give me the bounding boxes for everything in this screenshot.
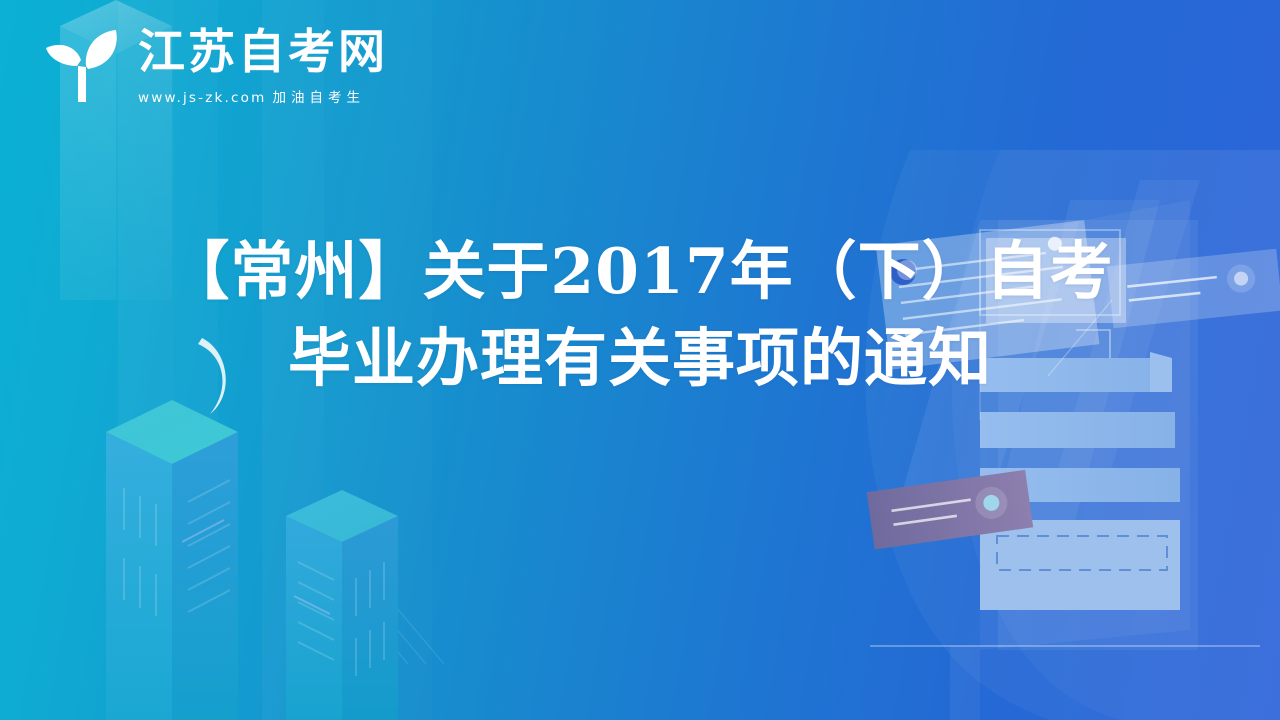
sprout-leaf-icon xyxy=(36,22,124,114)
tower-tall-left xyxy=(106,400,238,720)
site-logo[interactable]: 江苏自考网 www.js-zk.com加油自考生 xyxy=(36,22,388,114)
logo-text-column: 江苏自考网 www.js-zk.com加油自考生 xyxy=(138,22,388,106)
bg-hairlines xyxy=(300,600,460,720)
logo-url: www.js-zk.com xyxy=(138,90,266,106)
page-title: 【常州】关于2017年（下）自考毕业办理有关事项的通知 xyxy=(160,228,1120,402)
logo-subtitle: www.js-zk.com加油自考生 xyxy=(138,86,388,106)
logo-slogan: 加油自考生 xyxy=(272,90,365,106)
page-title-text: 【常州】关于2017年（下）自考毕业办理有关事项的通知 xyxy=(160,228,1120,402)
logo-title: 江苏自考网 xyxy=(138,28,388,77)
tilted-info-card-top xyxy=(1107,249,1280,328)
isometric-cityscape xyxy=(0,390,480,720)
dashed-placeholder-bar xyxy=(997,536,1167,570)
tower-short-right xyxy=(286,490,398,720)
tilted-info-card-purple xyxy=(867,470,1034,550)
cover-banner: 江苏自考网 www.js-zk.com加油自考生 xyxy=(0,0,1280,720)
